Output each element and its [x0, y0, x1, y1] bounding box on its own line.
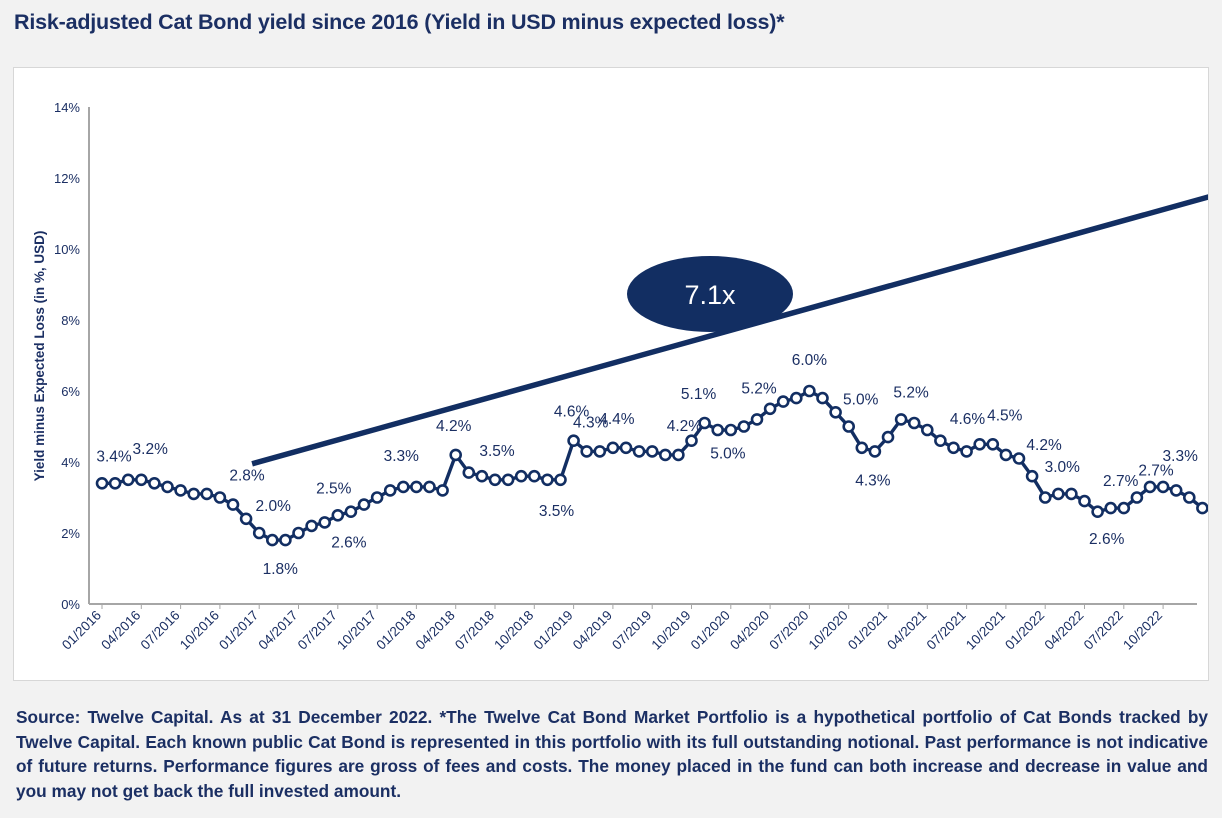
- data-point-marker: [516, 471, 526, 481]
- x-axis-tick-label: 10/2022: [1120, 608, 1165, 653]
- data-point-marker: [962, 446, 972, 456]
- point-value-label: 3.3%: [384, 448, 420, 465]
- point-value-label: 5.2%: [893, 384, 929, 401]
- x-axis-tick-label: 10/2018: [491, 608, 536, 653]
- x-axis-tick-label: 01/2017: [216, 608, 261, 653]
- point-value-label: 2.8%: [229, 468, 265, 485]
- data-point-marker: [385, 485, 395, 495]
- data-point-marker: [1184, 493, 1194, 503]
- data-point-marker: [97, 478, 107, 488]
- y-axis-tick-label: 10%: [54, 242, 80, 257]
- x-axis-tick-label: 07/2021: [924, 608, 969, 653]
- data-point-marker: [398, 482, 408, 492]
- data-point-marker: [713, 425, 723, 435]
- point-value-label: 4.3%: [573, 414, 609, 431]
- x-axis-tick-label: 01/2016: [59, 608, 104, 653]
- point-value-label: 5.2%: [741, 380, 777, 397]
- data-point-marker: [844, 422, 854, 432]
- y-axis-tick-label: 4%: [61, 455, 80, 470]
- data-point-marker: [673, 450, 683, 460]
- series-markers: [97, 145, 1208, 546]
- data-point-marker: [411, 482, 421, 492]
- data-point-marker: [1119, 503, 1129, 513]
- data-point-marker: [896, 414, 906, 424]
- x-axis-tick-label: 04/2016: [98, 608, 143, 653]
- point-value-label: 4.3%: [855, 472, 891, 489]
- y-axis-tick-label: 8%: [61, 313, 80, 328]
- point-value-label: 4.5%: [987, 407, 1023, 424]
- data-point-marker: [503, 475, 513, 485]
- point-value-label: 4.6%: [950, 411, 986, 428]
- data-point-marker: [909, 418, 919, 428]
- chart-card: 0%2%4%6%8%10%12%14% 01/201604/201607/201…: [13, 67, 1209, 681]
- x-axis-tick-label: 07/2018: [452, 608, 497, 653]
- data-point-marker: [778, 397, 788, 407]
- data-point-marker: [765, 404, 775, 414]
- x-axis-tick-label: 10/2017: [334, 608, 379, 653]
- source-footnote: Source: Twelve Capital. As at 31 Decembe…: [16, 705, 1208, 803]
- data-point-marker: [320, 517, 330, 527]
- data-point-marker: [1040, 493, 1050, 503]
- data-point-marker: [529, 471, 539, 481]
- point-value-label: 3.3%: [1163, 448, 1199, 465]
- data-point-marker: [215, 493, 225, 503]
- point-value-label: 2.6%: [1089, 531, 1125, 548]
- point-value-label: 3.4%: [96, 448, 132, 465]
- point-value-label: 2.7%: [1138, 463, 1174, 480]
- data-point-marker: [123, 475, 133, 485]
- data-point-marker: [988, 439, 998, 449]
- data-point-marker: [136, 475, 146, 485]
- data-point-marker: [1027, 471, 1037, 481]
- y-axis-tick-label: 14%: [54, 100, 80, 115]
- data-point-marker: [1066, 489, 1076, 499]
- data-point-marker: [752, 414, 762, 424]
- data-point-marker: [163, 482, 173, 492]
- point-value-label: 3.5%: [539, 503, 575, 520]
- x-axis-tick-label: 10/2019: [648, 608, 693, 653]
- data-point-marker: [949, 443, 959, 453]
- x-axis-tick-label: 04/2018: [413, 608, 458, 653]
- point-value-label: 6.0%: [792, 352, 828, 369]
- data-point-marker: [1001, 450, 1011, 460]
- data-point-marker: [608, 443, 618, 453]
- data-point-marker: [477, 471, 487, 481]
- data-point-marker: [346, 507, 356, 517]
- point-value-label: 5.1%: [681, 386, 717, 403]
- point-value-labels: 3.4%3.2%2.8%2.0%1.8%2.5%3.3%4.2%3.5%3.5%…: [96, 113, 1208, 579]
- data-point-marker: [542, 475, 552, 485]
- data-point-marker: [228, 500, 238, 510]
- data-point-marker: [660, 450, 670, 460]
- point-value-label: 2.5%: [316, 480, 352, 497]
- data-point-marker: [451, 450, 461, 460]
- point-value-label: 3.2%: [133, 441, 169, 458]
- x-axis-tick-label: 10/2021: [963, 608, 1008, 653]
- page-title: Risk-adjusted Cat Bond yield since 2016 …: [14, 10, 1204, 35]
- data-point-marker: [1014, 454, 1024, 464]
- data-point-marker: [149, 478, 159, 488]
- data-point-marker: [110, 478, 120, 488]
- data-point-marker: [739, 422, 749, 432]
- data-point-marker: [1132, 493, 1142, 503]
- data-point-marker: [425, 482, 435, 492]
- x-axis-tick-label: 01/2018: [373, 608, 418, 653]
- y-axis-tick-label: 6%: [61, 384, 80, 399]
- x-axis-tick-label: 07/2016: [138, 608, 183, 653]
- x-axis-tick-label: 10/2016: [177, 608, 222, 653]
- x-axis-tick-label: 04/2021: [884, 608, 929, 653]
- callout-label: 7.1x: [684, 280, 736, 310]
- data-point-marker: [1106, 503, 1116, 513]
- x-axis-tick-label: 07/2022: [1081, 608, 1126, 653]
- multiple-callout: 7.1x: [627, 256, 793, 332]
- data-point-marker: [647, 446, 657, 456]
- data-point-marker: [1145, 482, 1155, 492]
- data-point-marker: [726, 425, 736, 435]
- point-value-label: 3.0%: [1045, 459, 1081, 476]
- point-value-label: 1.8%: [263, 561, 299, 578]
- x-axis-tick-label: 04/2022: [1041, 608, 1086, 653]
- data-point-marker: [804, 386, 814, 396]
- point-value-label: 5.0%: [710, 446, 746, 463]
- data-point-marker: [202, 489, 212, 499]
- data-point-marker: [595, 446, 605, 456]
- data-point-marker: [1197, 503, 1207, 513]
- data-point-marker: [634, 446, 644, 456]
- data-point-marker: [935, 436, 945, 446]
- data-point-marker: [280, 535, 290, 545]
- y-axis-ticks: 0%2%4%6%8%10%12%14%: [54, 100, 80, 612]
- point-value-label: 2.0%: [256, 498, 292, 515]
- data-point-marker: [1053, 489, 1063, 499]
- point-value-label: 2.7%: [1103, 473, 1139, 490]
- x-axis-tick-label: 01/2019: [531, 608, 576, 653]
- x-axis-tick-label: 04/2019: [570, 608, 615, 653]
- data-point-marker: [490, 475, 500, 485]
- data-point-marker: [241, 514, 251, 524]
- point-value-label: 4.2%: [436, 418, 472, 435]
- data-point-marker: [294, 528, 304, 538]
- y-axis-tick-label: 12%: [54, 171, 80, 186]
- data-point-marker: [831, 407, 841, 417]
- data-point-marker: [1158, 482, 1168, 492]
- point-value-label: 4.2%: [1026, 437, 1062, 454]
- x-axis-tick-label: 07/2020: [766, 608, 811, 653]
- point-value-label: 5.0%: [843, 392, 879, 409]
- data-point-marker: [438, 485, 448, 495]
- data-point-marker: [818, 393, 828, 403]
- x-axis-tick-label: 07/2019: [609, 608, 654, 653]
- x-axis-tick-label: 04/2017: [255, 608, 300, 653]
- data-point-marker: [267, 535, 277, 545]
- data-point-marker: [556, 475, 566, 485]
- data-point-marker: [333, 510, 343, 520]
- data-point-marker: [922, 425, 932, 435]
- x-axis-tick-label: 01/2020: [688, 608, 733, 653]
- data-point-marker: [870, 446, 880, 456]
- data-point-marker: [307, 521, 317, 531]
- data-point-marker: [687, 436, 697, 446]
- series-line: [102, 150, 1208, 540]
- x-axis-tick-label: 01/2022: [1002, 608, 1047, 653]
- y-axis-tick-label: 2%: [61, 526, 80, 541]
- data-point-marker: [372, 493, 382, 503]
- x-axis-tick-label: 07/2017: [295, 608, 340, 653]
- x-axis-tick-label: 10/2020: [806, 608, 851, 653]
- point-value-label: 2.6%: [331, 535, 367, 552]
- data-point-marker: [1093, 507, 1103, 517]
- point-value-label: 4.2%: [667, 418, 703, 435]
- data-point-marker: [582, 446, 592, 456]
- data-point-marker: [189, 489, 199, 499]
- data-point-marker: [254, 528, 264, 538]
- data-point-marker: [883, 432, 893, 442]
- data-point-marker: [359, 500, 369, 510]
- x-axis-tick-label: 01/2021: [845, 608, 890, 653]
- data-point-marker: [1080, 496, 1090, 506]
- data-point-marker: [621, 443, 631, 453]
- data-point-marker: [1171, 485, 1181, 495]
- y-axis-tick-label: 0%: [61, 597, 80, 612]
- point-value-label: 3.5%: [479, 443, 515, 460]
- x-axis-tick-label: 04/2020: [727, 608, 772, 653]
- y-axis-title: Yield minus Expected Loss (in %, USD): [32, 231, 47, 482]
- data-point-marker: [176, 485, 186, 495]
- data-point-marker: [464, 468, 474, 478]
- chart-page: Risk-adjusted Cat Bond yield since 2016 …: [0, 0, 1222, 818]
- data-point-marker: [975, 439, 985, 449]
- data-point-marker: [857, 443, 867, 453]
- data-point-marker: [791, 393, 801, 403]
- x-axis-ticks: 01/201604/201607/201610/201601/201704/20…: [59, 604, 1165, 653]
- yield-line-chart: 0%2%4%6%8%10%12%14% 01/201604/201607/201…: [14, 68, 1208, 680]
- data-point-marker: [569, 436, 579, 446]
